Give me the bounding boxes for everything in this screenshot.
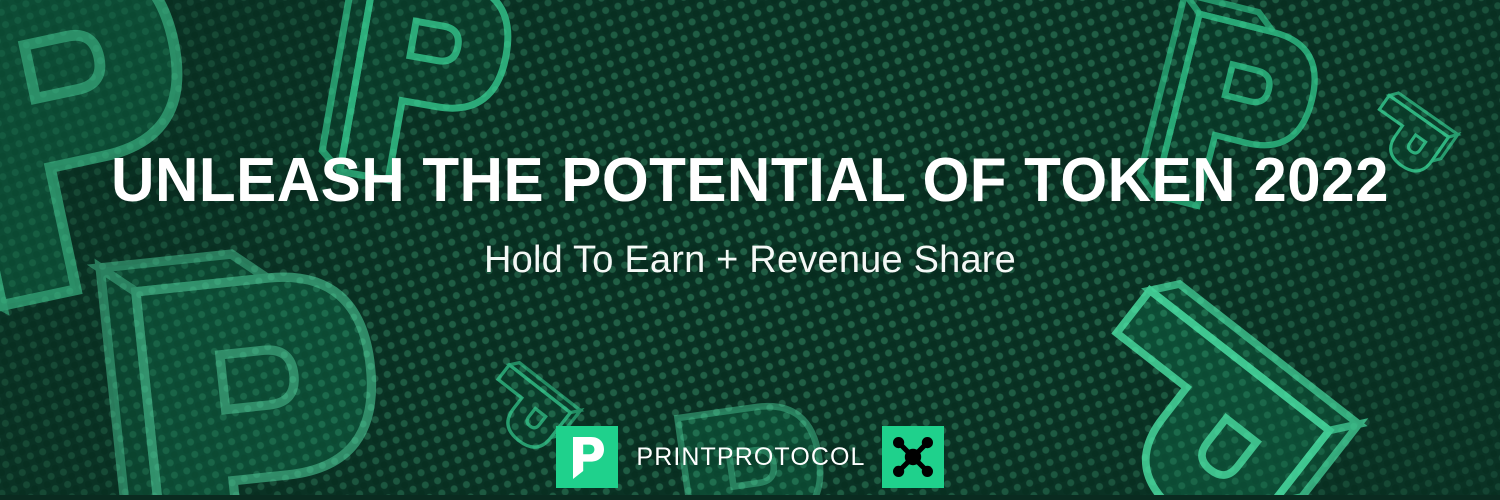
molecule-network-icon bbox=[890, 434, 936, 480]
page-subtitle: Hold To Earn + Revenue Share bbox=[0, 238, 1500, 282]
banner-content: UNLEASH THE POTENTIAL OF TOKEN 2022 Hold… bbox=[0, 0, 1500, 500]
promo-banner: UNLEASH THE POTENTIAL OF TOKEN 2022 Hold… bbox=[0, 0, 1500, 500]
printprotocol-logo-mark[interactable] bbox=[556, 426, 618, 488]
partner-badge[interactable] bbox=[882, 426, 944, 488]
page-title: UNLEASH THE POTENTIAL OF TOKEN 2022 bbox=[23, 150, 1478, 212]
brand-lockup: PRINTPROTOCOL bbox=[0, 426, 1500, 488]
printprotocol-p-logo-icon bbox=[569, 435, 605, 479]
brand-wordmark: PRINTPROTOCOL bbox=[636, 443, 865, 472]
bottom-divider bbox=[0, 495, 1500, 500]
